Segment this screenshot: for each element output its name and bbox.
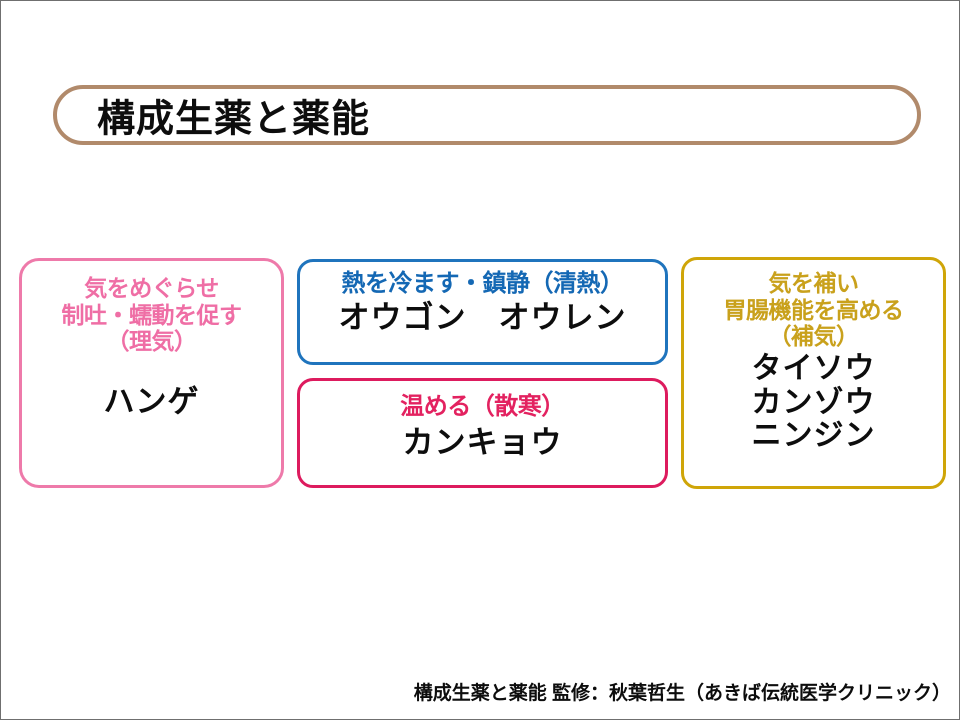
herb-group-effect-riki: 気をめぐらせ 制吐・蠕動を促す （理気） [62, 275, 242, 355]
herb-group-names-seinetsu: オウゴン オウレン [339, 301, 627, 336]
slide-footer-credit: 構成生薬と薬能 監修：秋葉哲生（あきば伝統医学クリニック） [414, 678, 951, 705]
herb-group-names-riki: ハンゲ [104, 385, 200, 420]
slide-canvas: 構成生薬と薬能 気をめぐらせ 制吐・蠕動を促す （理気） ハンゲ 熱を冷ます・鎮… [0, 0, 960, 720]
herb-group-effect-hoki: 気を補い 胃腸機能を高める （補気） [724, 270, 904, 350]
herb-group-effect-sankan: 温める（散寒） [400, 393, 565, 421]
herb-group-effect-seinetsu: 熱を冷ます・鎮静（清熱） [342, 270, 624, 298]
herb-group-sankan[interactable]: 温める（散寒） カンキョウ [297, 378, 668, 488]
slide-title-container: 構成生薬と薬能 [53, 85, 921, 145]
herb-group-names-sankan: カンキョウ [403, 426, 563, 461]
herb-group-riki[interactable]: 気をめぐらせ 制吐・蠕動を促す （理気） ハンゲ [19, 258, 284, 488]
herb-group-hoki[interactable]: 気を補い 胃腸機能を高める （補気） タイソウ カンゾウ ニンジン [681, 257, 946, 489]
herb-group-seinetsu[interactable]: 熱を冷ます・鎮静（清熱） オウゴン オウレン [297, 259, 668, 365]
page-title: 構成生薬と薬能 [97, 88, 370, 143]
herb-group-names-hoki: タイソウ カンゾウ ニンジン [752, 352, 876, 453]
